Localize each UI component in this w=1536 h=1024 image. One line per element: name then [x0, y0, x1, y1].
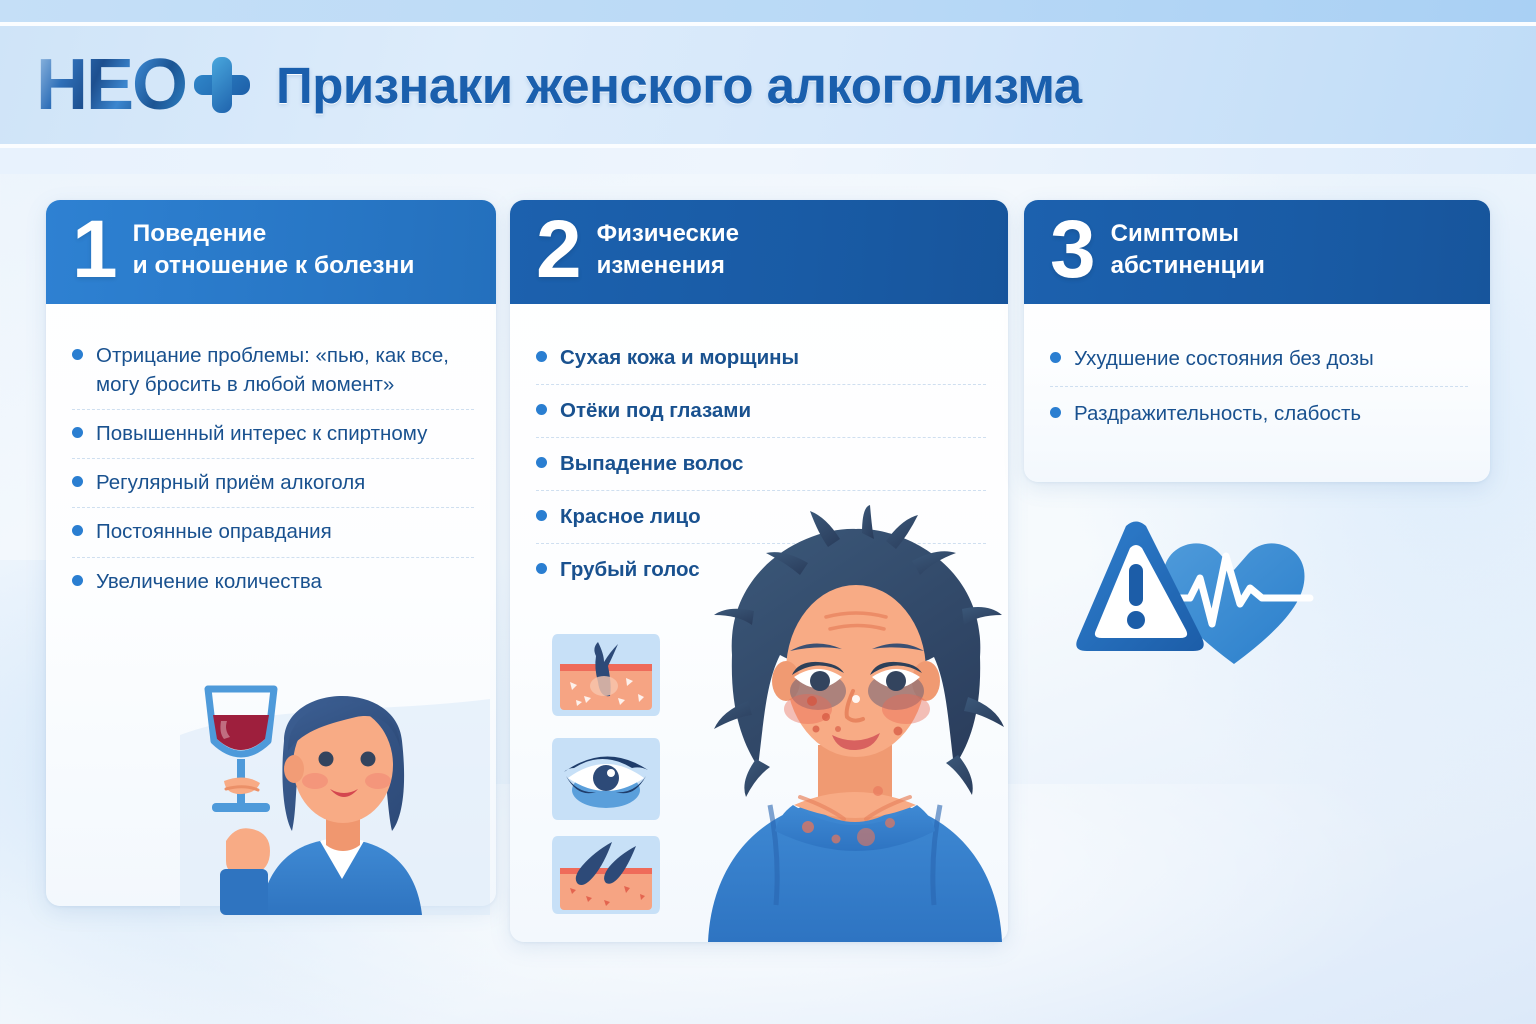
list-item: Красное лицо — [536, 491, 986, 544]
heartbeat-heart-icon — [1164, 543, 1310, 664]
brand-logo: НЕО — [36, 49, 250, 121]
page-title: Признаки женского алкоголизма — [276, 56, 1082, 115]
bullet-dot-icon — [1050, 352, 1061, 363]
bullet-dot-icon — [536, 510, 547, 521]
card-1-header: 1 Поведение и отношение к болезни — [46, 200, 496, 304]
list-item: Постоянные оправдания — [72, 508, 474, 557]
bullet-dot-icon — [536, 404, 547, 415]
list-item: Раздражительность, слабость — [1050, 387, 1468, 441]
list-item: Отрицание проблемы: «пью, как все, могу … — [72, 332, 474, 410]
list-item: Грубый голос — [536, 544, 986, 596]
list-item-label: Отрицание проблемы: «пью, как все, могу … — [96, 341, 474, 399]
list-item: Выпадение волос — [536, 438, 986, 491]
list-item-label: Грубый голос — [560, 555, 700, 584]
list-item-label: Увеличение количества — [96, 567, 322, 596]
bullet-dot-icon — [72, 575, 83, 586]
card-1-number: 1 — [72, 216, 115, 285]
card-1-title-line1: Поведение — [133, 220, 267, 247]
bullet-dot-icon — [72, 349, 83, 360]
bullet-dot-icon — [72, 476, 83, 487]
warning-and-heartbeat-illustration — [1052, 512, 1327, 672]
list-item-label: Регулярный приём алкоголя — [96, 468, 365, 497]
card-3-title: Симптомы абстиненции — [1111, 218, 1265, 281]
card-2-number: 2 — [536, 216, 579, 285]
list-item-label: Ухудшение состояния без дозы — [1074, 344, 1374, 373]
bullet-dot-icon — [536, 563, 547, 574]
list-item-label: Отёки под глазами — [560, 396, 751, 425]
card-3-title-line1: Симптомы — [1111, 220, 1239, 247]
card-2-title: Физические изменения — [597, 218, 739, 281]
bullet-dot-icon — [72, 427, 83, 438]
plus-icon — [194, 57, 250, 113]
card-3-header: 3 Симптомы абстиненции — [1024, 200, 1490, 304]
card-1-title-line2: и отношение к болезни — [133, 252, 415, 279]
card-2-list: Сухая кожа и морщины Отёки под глазами В… — [510, 304, 1008, 607]
bullet-dot-icon — [536, 351, 547, 362]
list-item-label: Раздражительность, слабость — [1074, 399, 1361, 428]
header-bottom-strip — [0, 148, 1536, 174]
list-item-label: Красное лицо — [560, 502, 701, 531]
card-1-title: Поведение и отношение к болезни — [133, 218, 415, 283]
card-3-list: Ухудшение состояния без дозы Раздражител… — [1024, 304, 1490, 451]
card-2-title-line1: Физические — [597, 220, 739, 247]
list-item: Повышенный интерес к спиртному — [72, 410, 474, 459]
card-2-title-line2: изменения — [597, 252, 725, 279]
card-3-title-line2: абстиненции — [1111, 252, 1265, 279]
bullet-dot-icon — [536, 457, 547, 468]
warning-triangle-icon — [1076, 522, 1203, 652]
card-behavior: 1 Поведение и отношение к болезни Отрица… — [46, 200, 496, 906]
list-item: Сухая кожа и морщины — [536, 332, 986, 385]
list-item-label: Повышенный интерес к спиртному — [96, 419, 427, 448]
bullet-dot-icon — [72, 525, 83, 536]
card-1-list: Отрицание проблемы: «пью, как все, могу … — [46, 304, 496, 616]
page-header: НЕО Признаки женского алкоголизма — [0, 22, 1536, 148]
list-item: Увеличение количества — [72, 558, 474, 606]
card-2-header: 2 Физические изменения — [510, 200, 1008, 304]
list-item: Ухудшение состояния без дозы — [1050, 332, 1468, 387]
logo-text: НЕО — [36, 49, 186, 121]
list-item: Отёки под глазами — [536, 385, 986, 438]
list-item-label: Сухая кожа и морщины — [560, 343, 799, 372]
header-top-strip — [0, 0, 1536, 22]
card-3-number: 3 — [1050, 216, 1093, 285]
card-withdrawal-symptoms: 3 Симптомы абстиненции Ухудшение состоян… — [1024, 200, 1490, 482]
bullet-dot-icon — [1050, 407, 1061, 418]
list-item-label: Выпадение волос — [560, 449, 743, 478]
card-physical-changes: 2 Физические изменения Сухая кожа и морщ… — [510, 200, 1008, 942]
list-item-label: Постоянные оправдания — [96, 517, 332, 546]
list-item: Регулярный приём алкоголя — [72, 459, 474, 508]
